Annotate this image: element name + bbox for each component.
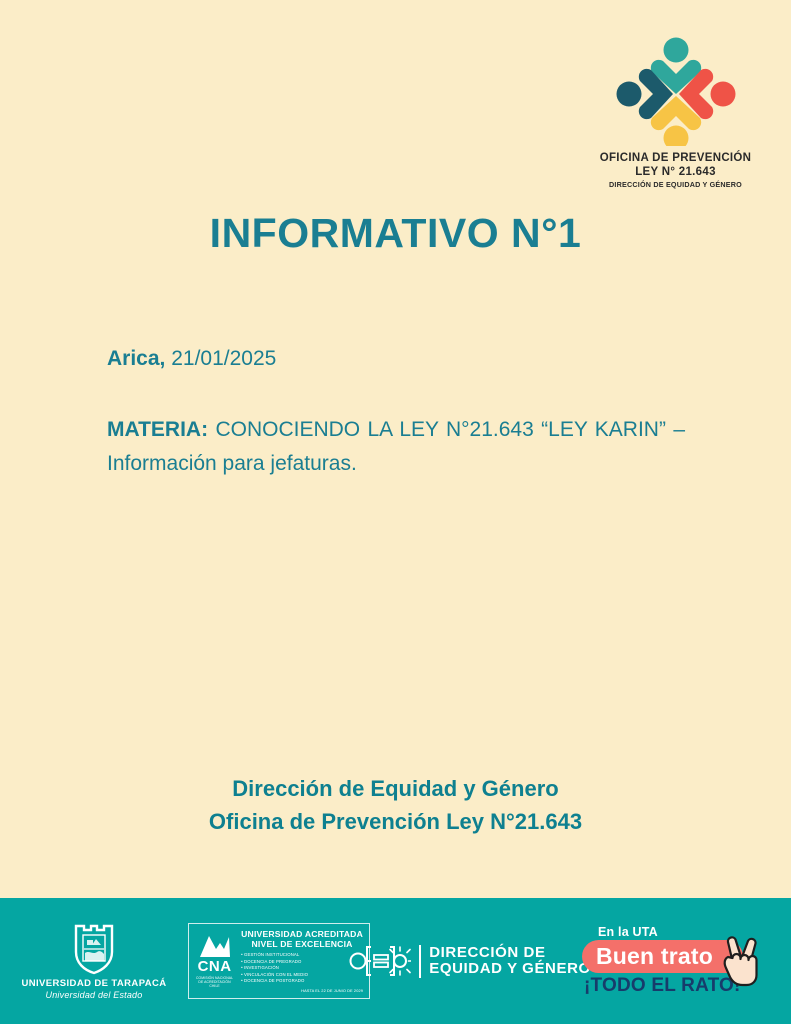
- date-line: Arica, 21/01/2025: [107, 345, 685, 373]
- document-body: Arica, 21/01/2025 MATERIA: CONOCIENDO LA…: [107, 345, 685, 481]
- materia-label: MATERIA:: [107, 418, 208, 441]
- four-people-circle-logo: [615, 34, 737, 146]
- cna-heading1: UNIVERSIDAD ACREDITADA: [241, 929, 363, 939]
- cna-mountain-icon: [198, 934, 232, 958]
- cna-acronym: CNA: [195, 959, 234, 974]
- deg-line1: DIRECCIÓN DE: [429, 945, 591, 962]
- cna-criteria-item: DOCENCIA DE PREGRADO: [241, 959, 363, 966]
- signature-line1: Dirección de Equidad y Género: [0, 772, 791, 805]
- cna-criteria-item: VINCULACIÓN CON EL MEDIO: [241, 972, 363, 979]
- uta-shield-crest-icon: [71, 923, 117, 975]
- cna-acronym-sub: COMISIÓN NACIONAL DE ACREDITACIÓN CHILE: [195, 976, 234, 989]
- date-value: 21/01/2025: [165, 347, 276, 370]
- materia-line: MATERIA: CONOCIENDO LA LEY N°21.643 “LEY…: [107, 413, 685, 481]
- signature-block: Dirección de Equidad y Género Oficina de…: [0, 772, 791, 838]
- footer-band: UNIVERSIDAD DE TARAPACÁ Universidad del …: [0, 898, 791, 1024]
- logo-caption-line3: DIRECCIÓN DE EQUIDAD Y GÉNERO: [588, 180, 763, 189]
- footer-uta-logo: UNIVERSIDAD DE TARAPACÁ Universidad del …: [0, 898, 188, 1024]
- footer-deg-logo: DIRECCIÓN DE EQUIDAD Y GÉNERO: [370, 898, 570, 1024]
- equity-gender-line-icon: [349, 941, 411, 981]
- cna-heading2: NIVEL DE EXCELENCIA: [241, 939, 363, 949]
- page-title: INFORMATIVO N°1: [0, 210, 791, 257]
- deg-line2: EQUIDAD Y GÉNERO: [429, 961, 591, 978]
- cna-criteria-list: GESTIÓN INSTITUCIONAL DOCENCIA DE PREGRA…: [241, 952, 363, 985]
- peace-sign-hand-icon: [718, 933, 762, 989]
- uta-name: UNIVERSIDAD DE TARAPACÁ: [21, 978, 166, 989]
- cna-valid-until: HASTA EL 22 DE JUNIO DE 2029: [241, 988, 363, 993]
- signature-line2: Oficina de Prevención Ley N°21.643: [0, 805, 791, 838]
- cna-criteria-item: GESTIÓN INSTITUCIONAL: [241, 952, 363, 959]
- footer-buen-trato-badge: En la UTA Buen trato ¡TODO EL RATO!: [570, 898, 770, 1024]
- uta-subtitle: Universidad del Estado: [21, 990, 166, 1000]
- header-logo: OFICINA DE PREVENCIÓN LEY N° 21.643 DIRE…: [588, 34, 763, 189]
- footer-cna-accreditation: CNA COMISIÓN NACIONAL DE ACREDITACIÓN CH…: [188, 898, 370, 1024]
- city-label: Arica,: [107, 347, 165, 370]
- cna-criteria-item: INVESTIGACIÓN: [241, 965, 363, 972]
- cna-criteria-item: DOCENCIA DE POSTGRADO: [241, 978, 363, 985]
- informativo-document: OFICINA DE PREVENCIÓN LEY N° 21.643 DIRE…: [0, 0, 791, 1024]
- logo-caption-line1: OFICINA DE PREVENCIÓN: [588, 152, 763, 166]
- logo-caption-line2: LEY N° 21.643: [588, 166, 763, 180]
